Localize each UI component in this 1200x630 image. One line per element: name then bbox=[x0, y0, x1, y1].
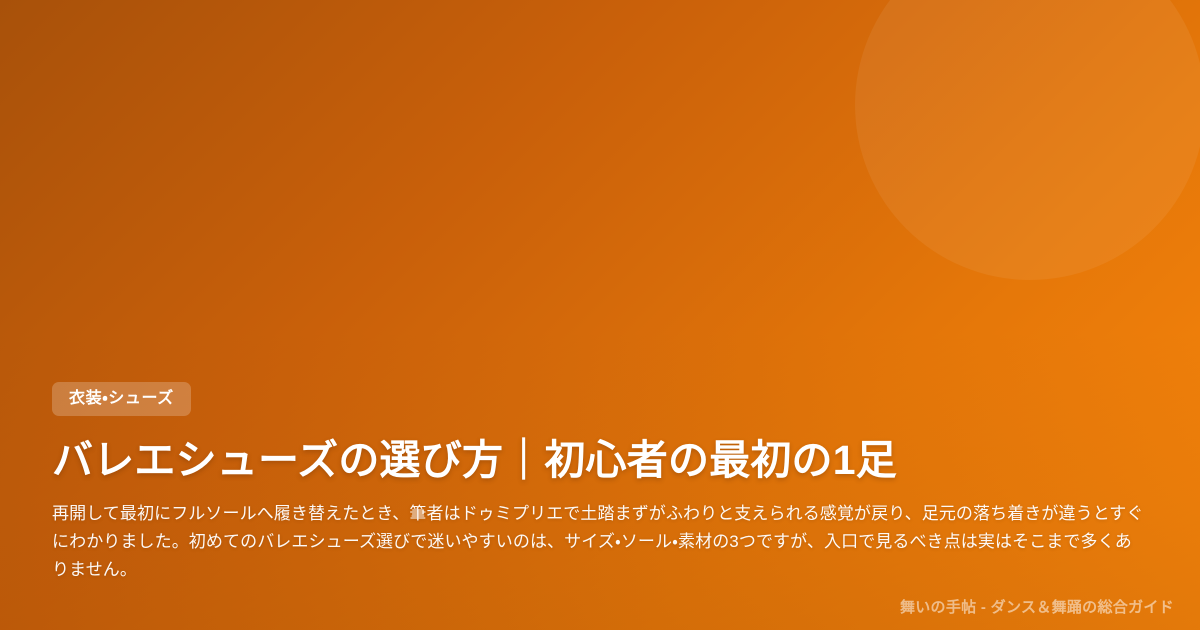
decorative-circle bbox=[855, 0, 1200, 280]
page-title: バレエシューズの選び方｜初心者の最初の1足 bbox=[52, 436, 1148, 484]
og-image-card: 衣装・シューズ バレエシューズの選び方｜初心者の最初の1足 再開して最初にフルソ… bbox=[0, 0, 1200, 630]
card-content: 衣装・シューズ バレエシューズの選び方｜初心者の最初の1足 再開して最初にフルソ… bbox=[52, 382, 1148, 584]
category-badge[interactable]: 衣装・シューズ bbox=[52, 382, 191, 416]
article-description: 再開して最初にフルソールへ履き替えたとき、筆者はドゥミプリエで土踏まずがふわりと… bbox=[52, 500, 1144, 584]
site-brand-label: 舞いの手帖 - ダンス＆舞踊の総合ガイド bbox=[900, 598, 1174, 618]
